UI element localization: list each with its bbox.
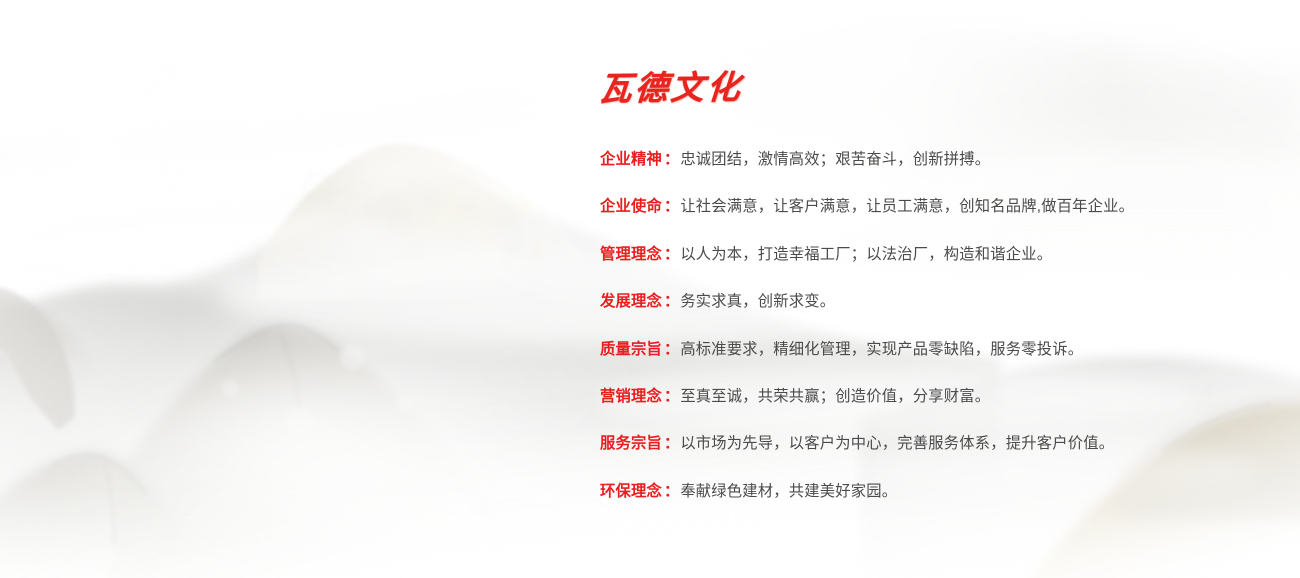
creed-item-enterprise-mission: 企业使命：让社会满意，让客户满意，让员工满意，创知名品牌,做百年企业。 <box>600 194 1260 241</box>
creed-separator: ： <box>662 388 680 405</box>
creed-item-environmental-philosophy: 环保理念：奉献绿色建材，共建美好家园。 <box>600 479 1260 526</box>
creed-label: 发展理念 <box>600 293 662 310</box>
creed-label: 企业精神 <box>600 151 662 168</box>
creed-separator: ： <box>662 246 680 263</box>
culture-page: 瓦德文化 企业精神：忠诚团结，激情高效；艰苦奋斗，创新拼搏。 企业使命：让社会满… <box>0 0 1300 578</box>
creed-separator: ： <box>662 483 680 500</box>
creed-text: 以人为本，打造幸福工厂；以法治厂，构造和谐企业。 <box>680 246 1052 263</box>
creed-item-management-philosophy: 管理理念：以人为本，打造幸福工厂；以法治厂，构造和谐企业。 <box>600 242 1260 289</box>
creed-text: 务实求真，创新求变。 <box>680 293 835 310</box>
page-title: 瓦德文化 <box>597 60 745 110</box>
creed-separator: ： <box>662 151 680 168</box>
creed-label: 管理理念 <box>600 246 662 263</box>
creed-label: 营销理念 <box>600 388 662 405</box>
creed-text: 至真至诚，共荣共赢；创造价值，分享财富。 <box>680 388 990 405</box>
creed-text: 以市场为先导，以客户为中心，完善服务体系，提升客户价值。 <box>680 435 1114 452</box>
creed-separator: ： <box>662 198 680 215</box>
creed-text: 让社会满意，让客户满意，让员工满意，创知名品牌,做百年企业。 <box>680 198 1134 215</box>
creed-item-enterprise-spirit: 企业精神：忠诚团结，激情高效；艰苦奋斗，创新拼搏。 <box>600 147 1260 194</box>
creed-text: 奉献绿色建材，共建美好家园。 <box>680 483 897 500</box>
content-layer: 瓦德文化 企业精神：忠诚团结，激情高效；艰苦奋斗，创新拼搏。 企业使命：让社会满… <box>0 0 1300 578</box>
creed-separator: ： <box>662 435 680 452</box>
creed-item-marketing-philosophy: 营销理念：至真至诚，共荣共赢；创造价值，分享财富。 <box>600 384 1260 431</box>
creed-separator: ： <box>662 293 680 310</box>
creed-item-service-purpose: 服务宗旨：以市场为先导，以客户为中心，完善服务体系，提升客户价值。 <box>600 431 1260 478</box>
creed-label: 服务宗旨 <box>600 435 662 452</box>
creed-text: 忠诚团结，激情高效；艰苦奋斗，创新拼搏。 <box>680 151 990 168</box>
creed-label: 质量宗旨 <box>600 341 662 358</box>
creed-item-development-philosophy: 发展理念：务实求真，创新求变。 <box>600 289 1260 336</box>
creed-label: 企业使命 <box>600 198 662 215</box>
creed-separator: ： <box>662 341 680 358</box>
creed-label: 环保理念 <box>600 483 662 500</box>
culture-creed-list: 企业精神：忠诚团结，激情高效；艰苦奋斗，创新拼搏。 企业使命：让社会满意，让客户… <box>600 147 1260 526</box>
creed-text: 高标准要求，精细化管理，实现产品零缺陷，服务零投诉。 <box>680 341 1083 358</box>
creed-item-quality-purpose: 质量宗旨：高标准要求，精细化管理，实现产品零缺陷，服务零投诉。 <box>600 337 1260 384</box>
